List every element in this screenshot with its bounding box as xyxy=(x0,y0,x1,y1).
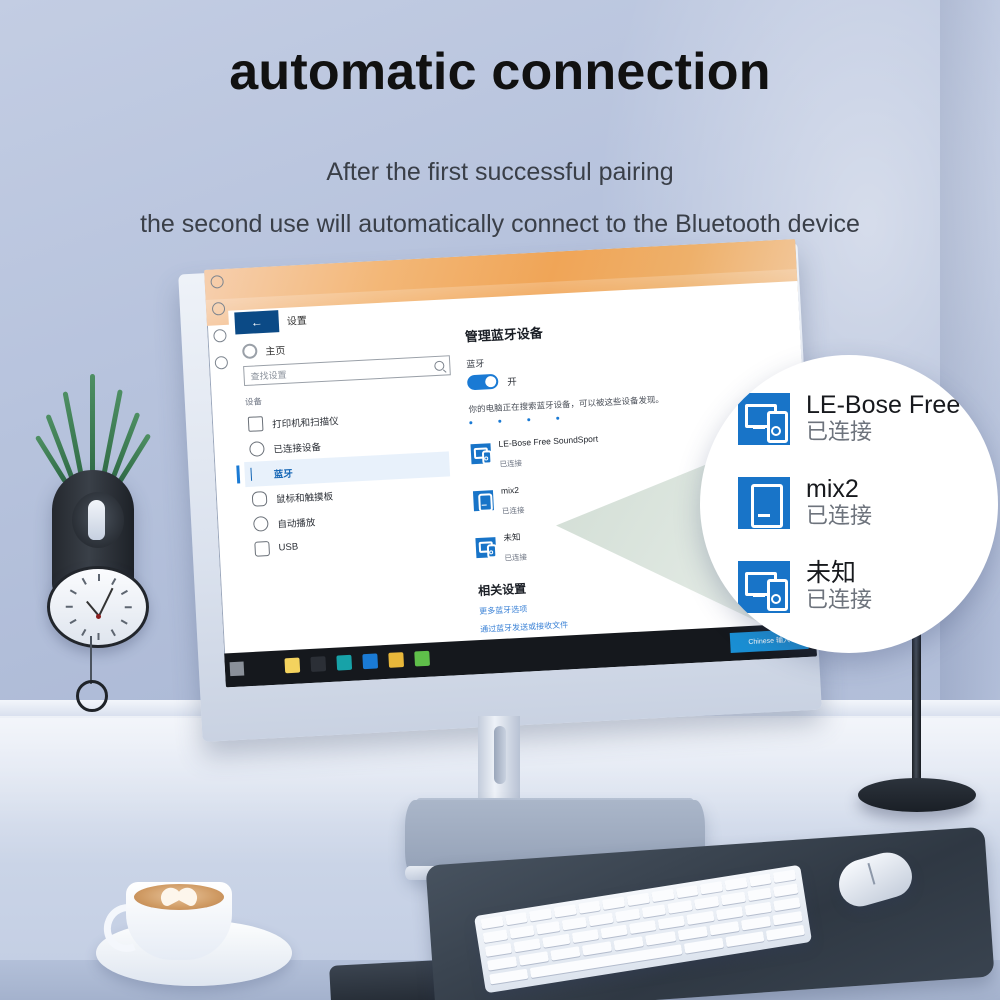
phone-icon xyxy=(473,490,494,511)
toggle-state-label: 开 xyxy=(507,373,517,387)
search-placeholder: 查找设置 xyxy=(250,367,287,382)
settings-nav-list[interactable]: 打印机和扫描仪 已连接设备 蓝牙 鼠标和触摸板 xyxy=(241,402,454,563)
taskbar-app-icons[interactable] xyxy=(284,651,430,674)
monitor-phone-icon xyxy=(738,561,790,613)
callout-device-name: mix2 xyxy=(806,476,872,503)
autoplay-icon xyxy=(253,516,269,532)
device-name: LE-Bose Free SoundSport xyxy=(498,433,598,448)
promo-subline-2: the second use will automatically connec… xyxy=(0,210,1000,239)
device-name: mix2 xyxy=(501,485,519,496)
monitor-phone-icon xyxy=(475,537,496,558)
sidebar-label: 已连接设备 xyxy=(273,439,321,455)
bluetooth-icon xyxy=(250,467,265,481)
device-status: 已连接 xyxy=(499,458,522,468)
callout-device-row: mix2 已连接 xyxy=(738,461,988,545)
mouse-icon xyxy=(252,491,268,507)
bird-figure xyxy=(88,500,105,540)
sidebar-label: 自动播放 xyxy=(277,514,316,530)
monitor-neck-slot xyxy=(494,726,506,784)
callout-device-status: 已连接 xyxy=(806,587,872,613)
promo-headline: automatic connection xyxy=(0,42,1000,102)
callout-device-status: 已连接 xyxy=(806,419,960,445)
callout-device-list: LE-Bose Free 已连接 mix2 已连接 xyxy=(738,377,988,629)
home-label: 主页 xyxy=(265,342,286,358)
connected-devices-icon xyxy=(249,441,265,457)
pendulum-bob xyxy=(76,680,108,712)
callout-device-row: 未知 已连接 xyxy=(738,545,988,629)
search-icon xyxy=(434,361,445,372)
callout-device-row: LE-Bose Free 已连接 xyxy=(738,377,988,461)
wall-clock-face xyxy=(47,566,149,648)
magnified-device-list-callout: LE-Bose Free 已连接 mix2 已连接 xyxy=(700,355,998,653)
callout-device-name: LE-Bose Free xyxy=(806,392,960,419)
clock-minute-hand xyxy=(98,588,113,617)
start-icon[interactable] xyxy=(230,661,245,676)
home-icon xyxy=(242,343,258,359)
device-status: 已连接 xyxy=(502,505,525,515)
settings-search-box[interactable]: 查找设置 xyxy=(243,355,451,386)
phone-icon xyxy=(738,477,790,529)
device-status: 已连接 xyxy=(504,552,527,562)
monitor-phone-icon xyxy=(738,393,790,445)
back-button[interactable]: ← xyxy=(234,310,279,334)
promo-subline-1: After the first successful pairing xyxy=(0,158,1000,187)
usb-icon xyxy=(254,541,270,557)
pendulum-rod xyxy=(90,636,92,684)
nav-section-label: 设备 xyxy=(245,395,263,408)
sidebar-label: 鼠标和触摸板 xyxy=(276,488,334,505)
sidebar-label: 打印机和扫描仪 xyxy=(272,413,339,430)
settings-home-item[interactable]: 主页 xyxy=(242,342,286,359)
device-name: 未知 xyxy=(503,532,521,543)
callout-device-status: 已连接 xyxy=(806,503,872,529)
sidebar-label: 蓝牙 xyxy=(273,465,293,480)
window-title: 设置 xyxy=(286,312,307,328)
callout-device-name: 未知 xyxy=(806,560,872,587)
bluetooth-toggle[interactable] xyxy=(467,374,499,391)
promo-scene: automatic connection After the first suc… xyxy=(0,0,1000,1000)
printer-icon xyxy=(248,416,264,432)
clock-pivot xyxy=(96,614,101,619)
monitor-phone-icon xyxy=(470,443,491,464)
latte-art-heart-icon xyxy=(160,888,198,904)
wall-corner-shadow xyxy=(940,0,1000,742)
lamp-base xyxy=(858,778,976,812)
sidebar-label: USB xyxy=(278,541,298,553)
plant-icon xyxy=(60,372,126,482)
back-arrow-icon: ← xyxy=(251,316,264,329)
